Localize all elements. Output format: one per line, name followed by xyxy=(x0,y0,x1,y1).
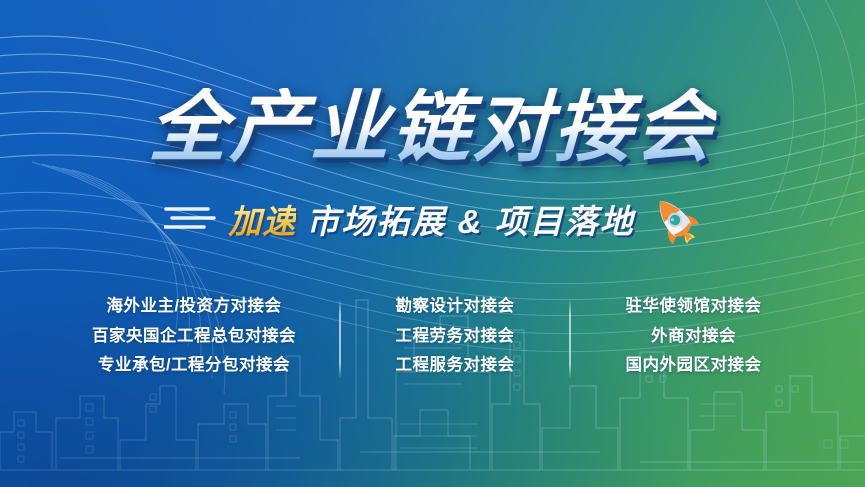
list-item[interactable]: 工程服务对接会 xyxy=(341,357,569,374)
subtitle-accent: 加速 xyxy=(228,195,296,243)
list-item[interactable]: 专业承包/工程分包对接会 xyxy=(49,357,339,374)
column-2: 勘察设计对接会 工程劳务对接会 工程服务对接会 xyxy=(341,298,569,374)
poster-banner: 全产业链对接会 加速 市场拓展 & 项目落地 xyxy=(0,0,865,487)
list-item[interactable]: 勘察设计对接会 xyxy=(341,298,569,315)
list-item[interactable]: 工程劳务对接会 xyxy=(341,328,569,345)
list-item[interactable]: 海外业主/投资方对接会 xyxy=(49,298,339,315)
page-title: 全产业链对接会 xyxy=(148,88,718,166)
column-1: 海外业主/投资方对接会 百家央国企工程总包对接会 专业承包/工程分包对接会 xyxy=(49,298,339,374)
list-item[interactable]: 外商对接会 xyxy=(571,328,816,345)
rocket-icon xyxy=(649,194,701,246)
subtitle-row: 加速 市场拓展 & 项目落地 xyxy=(0,192,865,246)
list-item[interactable]: 百家央国企工程总包对接会 xyxy=(49,328,339,345)
list-item[interactable]: 国内外园区对接会 xyxy=(571,357,816,374)
meeting-columns: 海外业主/投资方对接会 百家央国企工程总包对接会 专业承包/工程分包对接会 勘察… xyxy=(0,298,865,378)
column-3: 驻华使领馆对接会 外商对接会 国内外园区对接会 xyxy=(571,298,816,374)
list-item[interactable]: 驻华使领馆对接会 xyxy=(571,298,816,315)
subtitle-main: 市场拓展 & 项目落地 xyxy=(306,195,634,243)
speed-lines-icon xyxy=(164,199,220,239)
title-block: 全产业链对接会 xyxy=(0,88,865,166)
